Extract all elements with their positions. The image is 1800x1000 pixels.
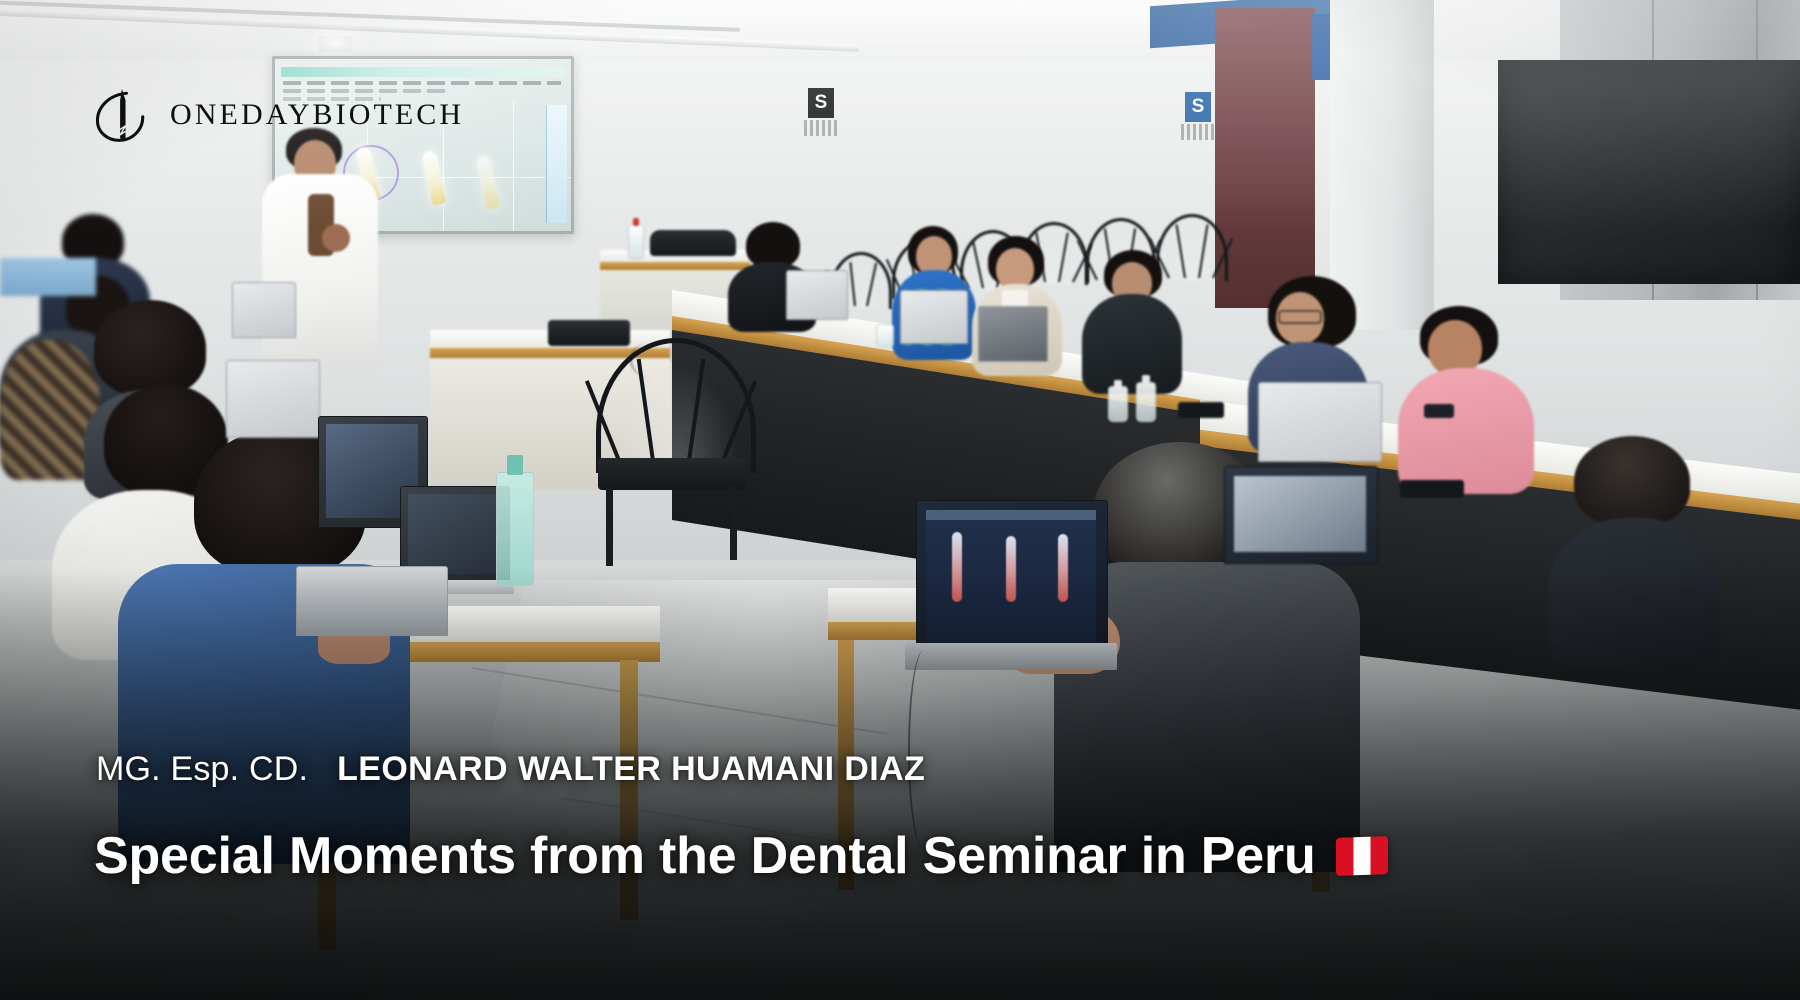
water-cup — [876, 324, 894, 348]
smartphone — [1178, 402, 1224, 418]
wall-window — [0, 258, 96, 296]
room-door — [1215, 8, 1315, 308]
headline-text: Special Moments from the Dental Seminar … — [94, 826, 1316, 886]
brand-wordmark: ONEDAYBIOTECH — [170, 98, 464, 132]
laptop — [900, 290, 966, 342]
laptop — [978, 306, 1046, 360]
chair-leg — [606, 488, 613, 566]
wall-sign-s-black: S — [808, 88, 834, 118]
wristwatch — [1424, 404, 1454, 418]
chair-leg — [730, 486, 737, 560]
speaker-prefix: MG. Esp. CD. — [96, 750, 308, 788]
seminar-promo-graphic: S S — [0, 0, 1800, 1000]
laptop — [296, 566, 446, 634]
hand-sanitizer — [1108, 386, 1128, 422]
onedaybiotech-circle-mark — [92, 86, 150, 144]
teal-water-bottle — [496, 472, 534, 586]
laptop — [1258, 382, 1380, 460]
laptop — [232, 282, 294, 336]
water-bottle — [628, 224, 644, 260]
laptop-dental-radiographs — [916, 500, 1106, 652]
laptop — [786, 270, 846, 318]
bag-on-table — [650, 230, 736, 256]
headline: Special Moments from the Dental Seminar … — [94, 826, 1388, 886]
speaker-credit: MG. Esp. CD. LEONARD WALTER HUAMANI DIAZ — [96, 750, 925, 789]
smartphone — [1400, 480, 1464, 498]
laptop — [226, 360, 318, 436]
peru-flag-icon — [1336, 836, 1388, 876]
brand-logo[interactable]: ONEDAYBIOTECH — [92, 86, 464, 144]
screen-app-toolbar — [281, 67, 565, 77]
hand-sanitizer — [1136, 382, 1156, 422]
attendee-pink-shirt — [1398, 306, 1530, 474]
attendee-dark-tshirt — [1082, 250, 1180, 380]
attendee-right-edge — [1548, 436, 1716, 646]
laptop — [1224, 466, 1376, 562]
wall-sign-s-blue: S — [1185, 92, 1211, 122]
empty-center-chair — [596, 338, 746, 468]
screen-side-panel — [546, 105, 567, 223]
chair-seat — [598, 458, 746, 490]
wall-dark-display-board — [1498, 60, 1800, 284]
room-ceiling — [0, 0, 1800, 60]
ceiling-lamp — [318, 36, 352, 52]
speaker-name: LEONARD WALTER HUAMANI DIAZ — [337, 750, 925, 788]
